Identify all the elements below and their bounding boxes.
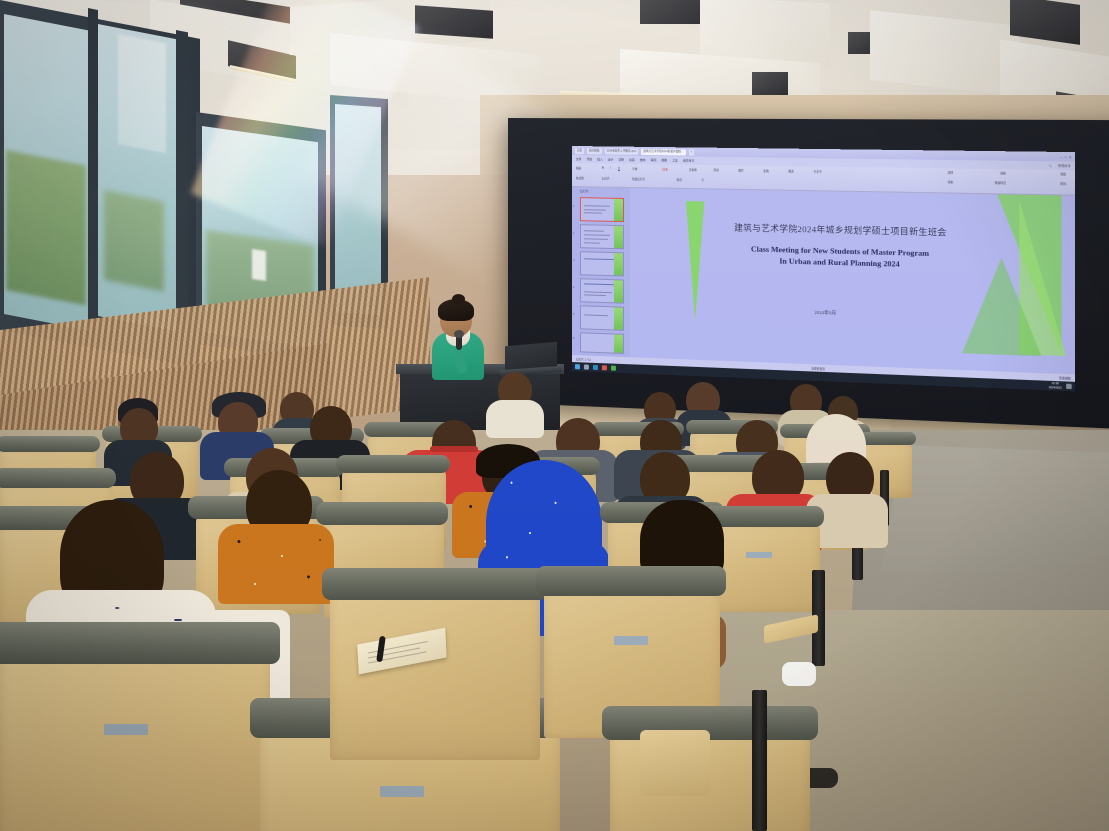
ribbon-table[interactable]: 表格 xyxy=(763,169,768,173)
slide-thumbnail[interactable] xyxy=(580,197,624,222)
window-person-outside xyxy=(252,249,266,281)
tab-templates[interactable]: 稻壳模板 xyxy=(587,148,601,154)
close-icon[interactable]: ✕ xyxy=(1069,155,1072,159)
restore-icon[interactable]: □ xyxy=(1065,155,1067,159)
wechat-icon[interactable] xyxy=(611,366,616,371)
ribbon-fill[interactable]: 填充 xyxy=(948,180,954,184)
ribbon-replace[interactable]: 替换 xyxy=(1000,171,1006,175)
slide-thumbnail[interactable] xyxy=(580,332,624,354)
window-mullion xyxy=(176,30,188,332)
window-foliage xyxy=(6,150,86,306)
status-slide-counter: 幻灯片 1 / 11 xyxy=(576,357,591,362)
slide-number: 5 xyxy=(573,313,574,316)
slide-thumbnail[interactable] xyxy=(580,224,624,249)
status-notes-button[interactable]: 演讲者备注 xyxy=(811,366,825,371)
ribbon-find[interactable]: 查找 xyxy=(1060,172,1066,176)
taskbar-clock[interactable]: 15:38 2024/9/23 xyxy=(1049,382,1062,389)
tab-orientation-pptx[interactable]: 2024年新生入学教育.pptx xyxy=(604,148,638,154)
ceiling-recess xyxy=(752,72,788,96)
audience-collar xyxy=(430,446,478,452)
explorer-icon[interactable] xyxy=(593,365,598,370)
audience-torso xyxy=(218,524,334,604)
slide-thumbnail[interactable] xyxy=(580,278,624,303)
menu-item-design[interactable]: 设计 xyxy=(608,157,614,161)
audience-sneaker xyxy=(782,662,816,686)
ribbon-paragraph[interactable]: 段落 xyxy=(662,167,667,171)
tab-new[interactable]: + xyxy=(689,149,695,155)
ribbon-textbox[interactable]: 文本框 xyxy=(689,168,697,172)
search-input[interactable]: 查找命令 xyxy=(1058,164,1071,168)
ribbon-shape[interactable]: 形状 xyxy=(714,168,719,172)
ribbon-underline[interactable]: U xyxy=(618,167,620,170)
clock-date: 2024/9/23 xyxy=(1049,386,1062,390)
microphone-head xyxy=(454,330,464,338)
ribbon-quick-style[interactable]: 快速样式 xyxy=(994,181,1005,185)
minimize-icon[interactable]: – xyxy=(1060,155,1062,159)
menu-item-review[interactable]: 审阅 xyxy=(651,158,657,162)
menu-item-slideshow[interactable]: 放映 xyxy=(640,158,646,162)
menu-item-tools[interactable]: 工具 xyxy=(672,158,678,162)
ribbon-font[interactable]: 字体 xyxy=(632,167,637,171)
ribbon-select[interactable]: 选择 xyxy=(948,170,954,174)
slide-canvas[interactable]: 建筑与艺术学院2024年城乡规划学硕士项目新生班会 Class Meeting … xyxy=(630,188,1075,378)
slide-number: 3 xyxy=(573,259,574,262)
ribbon-layout[interactable]: 版式 xyxy=(677,178,682,182)
ribbon-image[interactable]: 图片 xyxy=(738,168,743,172)
audience-torso xyxy=(486,400,544,438)
presenter-hair-bun xyxy=(452,294,465,304)
ribbon-section[interactable]: 节 xyxy=(701,178,704,182)
seat-support-leg xyxy=(752,690,767,831)
thumbnail-panel-label: 幻灯片 xyxy=(580,189,589,193)
ribbon-format-painter[interactable]: 格式刷 xyxy=(576,176,584,180)
slide-thumbnail[interactable] xyxy=(580,251,624,276)
tab-active-presentation[interactable]: 建筑与艺术学院2024年城乡规划… xyxy=(641,148,685,155)
menu-item-view[interactable]: 视图 xyxy=(661,158,667,162)
window-mullion xyxy=(88,8,98,330)
slide-number: 1 xyxy=(573,205,574,208)
notifications-icon[interactable] xyxy=(1066,384,1072,390)
tab-home[interactable]: 首页 xyxy=(575,148,584,154)
menu-item-insert[interactable]: 插入 xyxy=(597,157,603,161)
app-workspace: 幻灯片 1 2 xyxy=(572,187,1075,378)
start-icon[interactable] xyxy=(575,364,580,369)
status-view-mode: 普通视图 xyxy=(1059,375,1071,380)
menu-item-transition[interactable]: 切换 xyxy=(618,158,624,162)
ribbon-chart[interactable]: 图表 xyxy=(788,169,793,173)
menu-item-animation[interactable]: 动画 xyxy=(629,158,635,162)
seat-writing-tablet xyxy=(640,730,710,796)
window-foliage xyxy=(104,190,164,292)
wps-icon[interactable] xyxy=(602,365,607,370)
ribbon-bold[interactable]: B xyxy=(602,166,604,169)
ribbon-paste[interactable]: 粘贴 xyxy=(576,166,581,170)
ceiling-recess xyxy=(415,5,493,38)
ribbon-arrange[interactable]: 排列 xyxy=(1060,182,1066,186)
lecture-hall-photo: 首页 稻壳模板 2024年新生入学教育.pptx 建筑与艺术学院2024年城乡规… xyxy=(0,0,1109,831)
menu-item-member[interactable]: 会员专享 xyxy=(683,158,694,162)
ribbon-italic[interactable]: I xyxy=(610,167,611,170)
slide-number: 6 xyxy=(573,337,574,340)
slide-thumbnail[interactable] xyxy=(580,305,624,331)
aisle-step xyxy=(880,445,1109,575)
display-screen[interactable]: 首页 稻壳模板 2024年新生入学教育.pptx 建筑与艺术学院2024年城乡规… xyxy=(572,146,1075,391)
window-sky xyxy=(118,34,166,153)
search-icon[interactable] xyxy=(584,364,589,369)
menu-item-home[interactable]: 开始 xyxy=(587,157,593,161)
search-icon[interactable]: 🔍 xyxy=(1049,163,1053,167)
slide-number: 2 xyxy=(573,232,574,235)
slide-number: 4 xyxy=(573,286,574,289)
ribbon-new-slide[interactable]: 新建幻灯片 xyxy=(632,177,645,181)
ribbon-wordart[interactable]: 艺术字 xyxy=(814,170,822,174)
slide-thumbnail-panel[interactable]: 幻灯片 1 2 xyxy=(572,187,631,360)
ribbon-slide[interactable]: 幻灯片 xyxy=(602,176,610,180)
menu-item-file[interactable]: 文件 xyxy=(576,157,582,161)
